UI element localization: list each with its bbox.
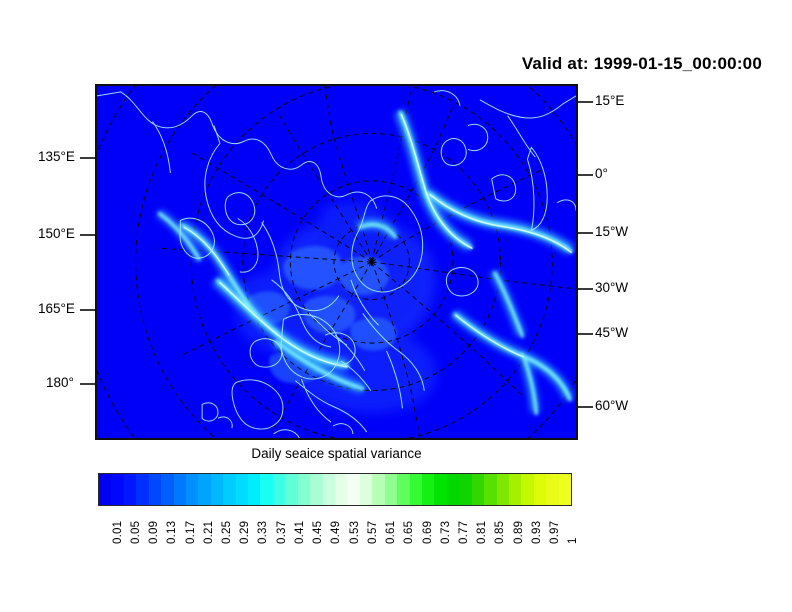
colorbar-tick-label: 0.73 bbox=[440, 521, 452, 544]
colorbar-tick-label: 0.21 bbox=[203, 521, 215, 544]
colorbar-swatch bbox=[347, 474, 359, 505]
colorbar-tick-label: 0.17 bbox=[185, 521, 197, 544]
colorbar-swatch bbox=[149, 474, 161, 505]
colorbar-tick-label: 0.81 bbox=[476, 521, 488, 544]
colorbar-swatch bbox=[521, 474, 533, 505]
colorbar-swatch bbox=[298, 474, 310, 505]
colorbar-swatch bbox=[136, 474, 148, 505]
right-axis-label-4: 45°W bbox=[595, 326, 628, 340]
colorbar-swatch bbox=[410, 474, 422, 505]
colorbar-tick-label: 0.41 bbox=[294, 521, 306, 544]
right-axis-tick-3 bbox=[578, 288, 593, 290]
colorbar-tick-label: 0.89 bbox=[513, 521, 525, 544]
colorbar-tick-label: 0.09 bbox=[148, 521, 160, 544]
colorbar-swatch bbox=[198, 474, 210, 505]
colorbar-tick-label: 0.93 bbox=[531, 521, 543, 544]
colorbar-swatch bbox=[248, 474, 260, 505]
colorbar-tick-label: 0.53 bbox=[349, 521, 361, 544]
colorbar-swatch bbox=[310, 474, 322, 505]
colorbar-swatch bbox=[111, 474, 123, 505]
colorbar-swatch bbox=[211, 474, 223, 505]
colorbar-swatch bbox=[174, 474, 186, 505]
map-canvas bbox=[97, 86, 576, 438]
colorbar-swatch bbox=[546, 474, 558, 505]
colorbar-tick-label: 0.77 bbox=[458, 521, 470, 544]
colorbar-swatch bbox=[385, 474, 397, 505]
colorbar-tick-label: 0.97 bbox=[549, 521, 561, 544]
page-title: Valid at: 1999-01-15_00:00:00 bbox=[0, 54, 762, 74]
right-axis-label-1: 0° bbox=[595, 167, 608, 181]
colorbar-tick-label: 0.45 bbox=[312, 521, 324, 544]
left-axis-tick-0 bbox=[80, 157, 95, 159]
colorbar-tick-label: 0.01 bbox=[112, 521, 124, 544]
colorbar-swatch bbox=[472, 474, 484, 505]
right-axis-tick-5 bbox=[578, 406, 593, 408]
colorbar-tick-label: 0.29 bbox=[239, 521, 251, 544]
colorbar-swatch bbox=[260, 474, 272, 505]
colorbar-tick-label: 0.33 bbox=[257, 521, 269, 544]
right-axis-tick-0 bbox=[578, 101, 593, 103]
colorbar-tick-label: 1 bbox=[567, 537, 579, 544]
colorbar-tick-label: 0.49 bbox=[330, 521, 342, 544]
left-axis-label-2: 165°E bbox=[38, 302, 75, 316]
colorbar-swatch bbox=[124, 474, 136, 505]
colorbar-tick-label: 0.65 bbox=[403, 521, 415, 544]
right-axis-label-5: 60°W bbox=[595, 399, 628, 413]
left-axis-label-1: 150°E bbox=[38, 227, 75, 241]
colorbar-swatch bbox=[372, 474, 384, 505]
colorbar-swatch bbox=[434, 474, 446, 505]
left-axis-tick-1 bbox=[80, 234, 95, 236]
colorbar-tick-label: 0.69 bbox=[422, 521, 434, 544]
colorbar-swatch bbox=[273, 474, 285, 505]
colorbar-swatch bbox=[323, 474, 335, 505]
colorbar-swatch bbox=[447, 474, 459, 505]
colorbar-swatch bbox=[484, 474, 496, 505]
colorbar-tick-label: 0.57 bbox=[367, 521, 379, 544]
colorbar-tick-label: 0.85 bbox=[494, 521, 506, 544]
colorbar-tick-labels: 0.010.050.090.130.170.210.250.290.330.37… bbox=[98, 508, 572, 578]
left-axis-tick-3 bbox=[80, 383, 95, 385]
colorbar-swatch bbox=[559, 474, 571, 505]
colorbar-tick-label: 0.13 bbox=[166, 521, 178, 544]
colorbar-swatch bbox=[422, 474, 434, 505]
colorbar-swatch bbox=[397, 474, 409, 505]
colorbar-swatch bbox=[335, 474, 347, 505]
colorbar-tick-label: 0.25 bbox=[221, 521, 233, 544]
colorbar-swatch bbox=[459, 474, 471, 505]
colorbar-swatch bbox=[186, 474, 198, 505]
right-axis-tick-2 bbox=[578, 232, 593, 234]
right-axis-label-2: 15°W bbox=[595, 225, 628, 239]
map-plot-area[interactable] bbox=[95, 84, 578, 440]
plot-caption: Daily seaice spatial variance bbox=[95, 446, 578, 461]
colorbar[interactable] bbox=[98, 473, 572, 506]
left-axis-label-3: 180° bbox=[46, 376, 74, 390]
right-axis-tick-1 bbox=[578, 174, 593, 176]
colorbar-swatch bbox=[509, 474, 521, 505]
colorbar-swatch bbox=[161, 474, 173, 505]
colorbar-swatch bbox=[497, 474, 509, 505]
colorbar-swatch bbox=[99, 474, 111, 505]
colorbar-tick-label: 0.61 bbox=[385, 521, 397, 544]
colorbar-swatch bbox=[360, 474, 372, 505]
right-axis-tick-4 bbox=[578, 333, 593, 335]
left-axis-tick-2 bbox=[80, 309, 95, 311]
colorbar-swatch bbox=[534, 474, 546, 505]
colorbar-swatch bbox=[223, 474, 235, 505]
colorbar-tick-label: 0.37 bbox=[276, 521, 288, 544]
colorbar-tick-label: 0.05 bbox=[130, 521, 142, 544]
colorbar-swatch bbox=[285, 474, 297, 505]
colorbar-swatch bbox=[236, 474, 248, 505]
left-axis-label-0: 135°E bbox=[38, 150, 75, 164]
right-axis-label-3: 30°W bbox=[595, 281, 628, 295]
right-axis-label-0: 15°E bbox=[595, 94, 624, 108]
